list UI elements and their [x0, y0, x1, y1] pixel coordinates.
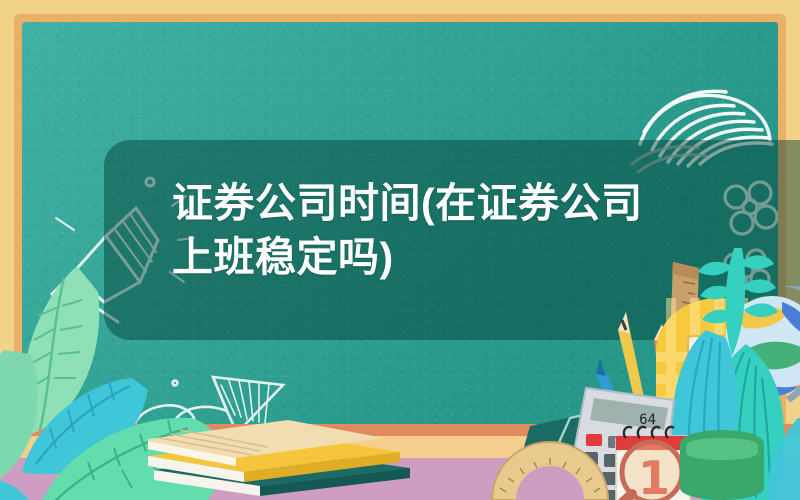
book-stack-left-icon: [148, 398, 418, 500]
poster-canvas: 证券公司时间(在证券公司 上班稳定吗) 证券公司时间(在证券公司上班稳定吗): [0, 0, 800, 500]
page-title-line-1: 证券公司时间(在证券公司: [172, 176, 692, 230]
pen-tray-icon: [676, 430, 766, 500]
page-title: 证券公司时间(在证券公司 上班稳定吗): [172, 176, 692, 284]
page-title-line-2: 上班稳定吗): [172, 230, 692, 284]
protractor-icon: [486, 440, 616, 500]
